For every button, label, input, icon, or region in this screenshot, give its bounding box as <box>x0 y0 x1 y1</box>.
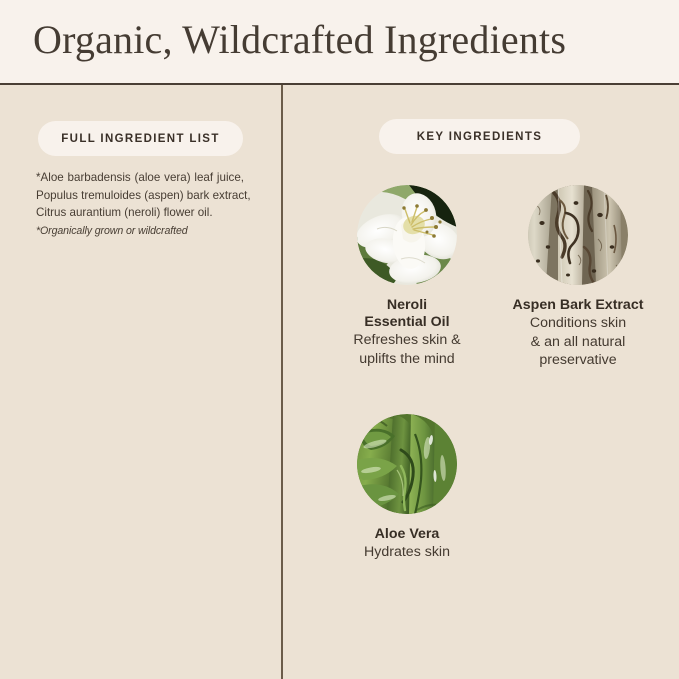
page-title: Organic, Wildcrafted Ingredients <box>33 14 566 66</box>
ingredients-infographic: Organic, Wildcrafted Ingredients FULL IN… <box>0 0 679 679</box>
full-ingredient-list-badge: FULL INGREDIENT LIST <box>38 121 243 156</box>
key-ingredients-badge-label: KEY INGREDIENTS <box>417 131 542 143</box>
ingredient-title: Neroli Essential Oil <box>322 297 492 331</box>
ingredient-list: *Aloe barbadensis (aloe vera) leaf juice… <box>36 169 244 240</box>
ingredient-line: Populus tremuloides (aspen) bark extract… <box>36 187 244 205</box>
ingredient-title-line: Neroli <box>322 297 492 314</box>
ingredient-title-line: Aspen Bark Extract <box>483 297 673 314</box>
ingredient-description-line: Hydrates skin <box>322 543 492 562</box>
key-ingredients-badge: KEY INGREDIENTS <box>379 119 580 154</box>
ingredient-line: Citrus aurantium (neroli) flower oil. <box>36 204 244 222</box>
ingredient-footnote: *Organically grown or wildcrafted <box>36 223 244 241</box>
ingredient-title: Aloe Vera <box>322 526 492 543</box>
full-ingredient-list-badge-label: FULL INGREDIENT LIST <box>61 133 219 145</box>
ingredient-card-aspen-bark: Aspen Bark Extract Conditions skin & an … <box>483 185 673 370</box>
ingredient-description-line: preservative <box>483 351 673 370</box>
ingredient-title-line: Aloe Vera <box>322 526 492 543</box>
ingredient-description-line: Refreshes skin & <box>322 331 492 350</box>
ingredient-description: Refreshes skin & uplifts the mind <box>322 331 492 368</box>
full-ingredient-list-panel: FULL INGREDIENT LIST *Aloe barbadensis (… <box>0 85 281 679</box>
key-ingredients-panel: KEY INGREDIENTS <box>283 85 679 679</box>
ingredient-title-line: Essential Oil <box>322 314 492 331</box>
header-bar: Organic, Wildcrafted Ingredients <box>0 0 679 85</box>
aspen-bark-photo <box>528 185 628 285</box>
ingredient-card-neroli: Neroli Essential Oil Refreshes skin & up… <box>322 185 492 368</box>
ingredient-description-line: uplifts the mind <box>322 350 492 369</box>
ingredient-line: *Aloe barbadensis (aloe vera) leaf juice… <box>36 169 244 187</box>
neroli-flower-photo <box>357 185 457 285</box>
ingredient-description-line: & an all natural <box>483 333 673 352</box>
ingredient-description-line: Conditions skin <box>483 314 673 333</box>
aloe-vera-leaves-photo <box>357 414 457 514</box>
ingredient-title: Aspen Bark Extract <box>483 297 673 314</box>
ingredient-card-aloe-vera: Aloe Vera Hydrates skin <box>322 414 492 562</box>
ingredient-description: Hydrates skin <box>322 543 492 562</box>
ingredient-description: Conditions skin & an all natural preserv… <box>483 314 673 370</box>
